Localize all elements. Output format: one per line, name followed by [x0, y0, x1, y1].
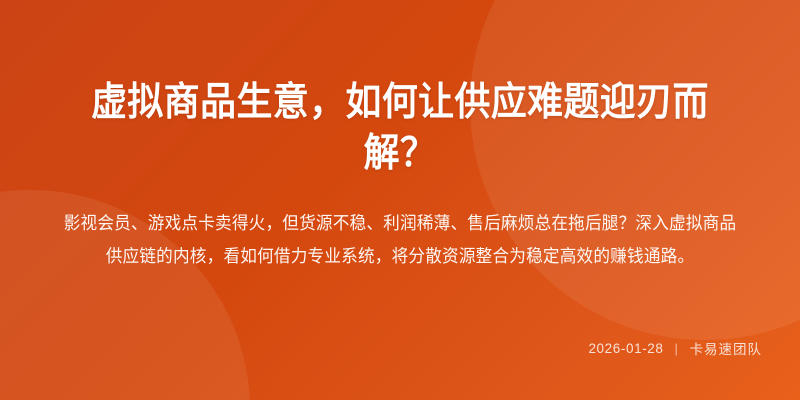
cover-content: 虚拟商品生意，如何让供应难题迎刃而解？ 影视会员、游戏点卡卖得火，但货源不稳、利…	[0, 0, 800, 400]
cover-title: 虚拟商品生意，如何让供应难题迎刃而解？	[67, 0, 733, 179]
article-cover-card: 虚拟商品生意，如何让供应难题迎刃而解？ 影视会员、游戏点卡卖得火，但货源不稳、利…	[0, 0, 800, 400]
cover-description: 影视会员、游戏点卡卖得火，但货源不稳、利润稀薄、售后麻烦总在拖后腿？深入虚拟商品…	[56, 179, 744, 271]
